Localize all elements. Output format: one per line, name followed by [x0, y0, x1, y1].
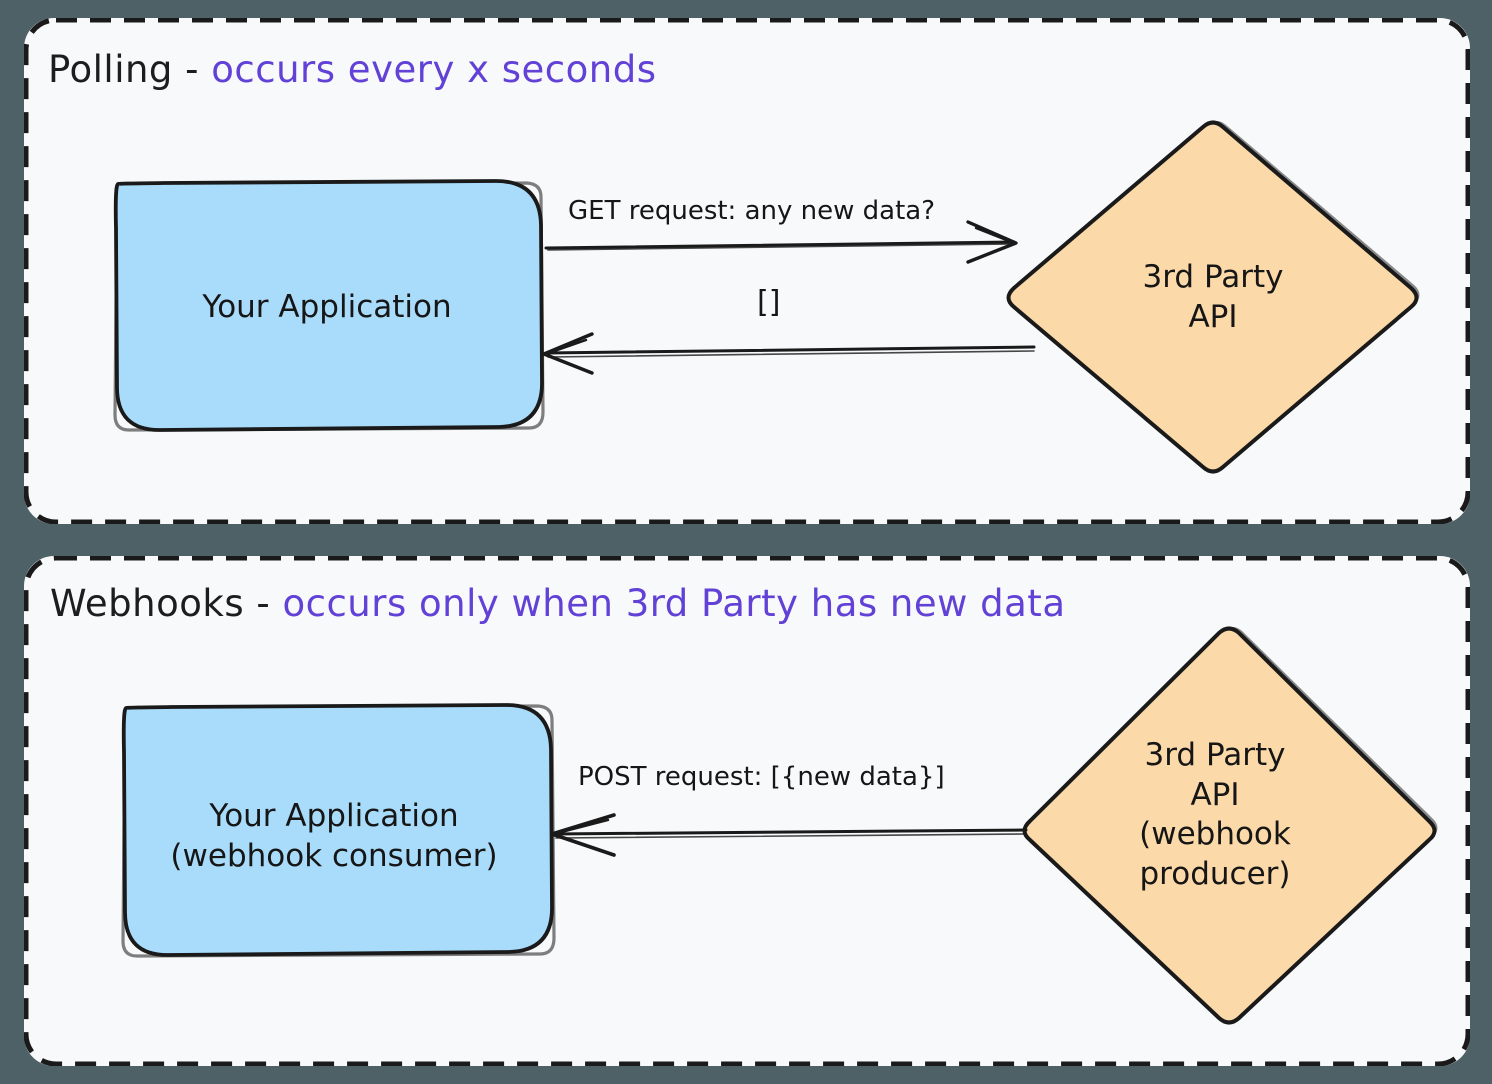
panel-webhooks-title: Webhooks - occurs only when 3rd Party ha… — [50, 582, 1066, 625]
panel-webhooks-title-main: Webhooks - — [50, 582, 282, 625]
diagram-canvas: Polling - occurs every x seconds Webhook… — [0, 0, 1492, 1084]
panel-polling — [24, 18, 1470, 524]
panel-polling-dashed-border — [24, 18, 1470, 524]
panel-polling-title: Polling - occurs every x seconds — [48, 48, 657, 91]
panel-webhooks — [24, 556, 1470, 1066]
panel-webhooks-dashed-border — [24, 556, 1470, 1066]
panel-polling-title-main: Polling - — [48, 48, 211, 91]
panel-polling-title-accent: occurs every x seconds — [211, 48, 656, 91]
panel-webhooks-title-accent: occurs only when 3rd Party has new data — [282, 582, 1065, 625]
